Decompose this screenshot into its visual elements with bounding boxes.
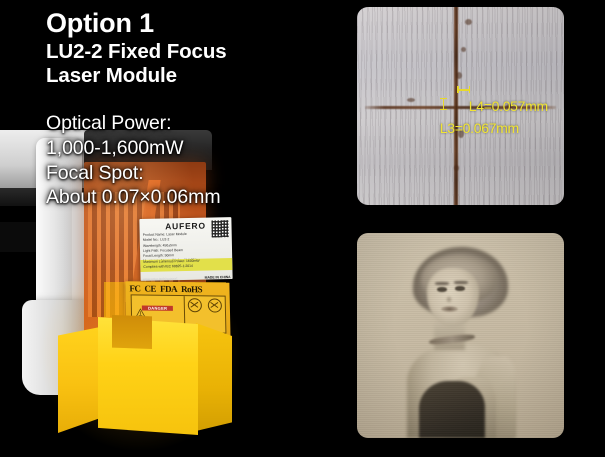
shield-right-panel [196,323,232,431]
measurement-tick-horizontal [457,89,470,90]
measurement-label-l3: L3=0.067mm [440,120,519,136]
sample-photo-line-measurement: L4=0.057mm L3=0.067mm [357,7,564,205]
shield-notch [112,315,152,349]
no-skin-exposure-icon [208,298,222,312]
cert-ce-icon: CE [144,284,156,294]
burn-spot [407,98,415,102]
made-in-text: MADE IN CHINA [205,275,231,280]
spec-list: Optical Power: 1,000-1,600mW Focal Spot:… [46,111,336,211]
portrait-material-texture [357,233,564,438]
no-stare-icon [187,298,201,312]
spec-optical-power-value: 1,000-1,600mW [46,136,336,161]
spec-highlight-line: Complies with IEC 60825-1:2014 [140,263,232,270]
spec-label-highlight-strip: Maximum Luminous Power: 1600mW Complies … [140,258,232,272]
slide-canvas: AUFERO Product Name: Laser Module Model … [0,0,605,457]
measurement-label-l4: L4=0.057mm [469,98,548,114]
engraved-portrait [357,233,564,438]
spec-focal-spot-value: About 0.07×0.06mm [46,185,336,210]
laser-safety-shield [58,315,234,435]
support-url-text: www.ortur.tech/support [143,277,178,282]
measurement-tick-vertical [443,98,444,110]
spec-optical-power-label: Optical Power: [46,111,336,136]
certification-marks: FC CE FDA RoHS [125,281,229,294]
cert-fc-icon: FC [129,283,140,293]
product-subtitle: LU2-2 Fixed Focus Laser Module [46,40,336,88]
burn-spot [461,47,466,52]
burn-spot [465,19,472,25]
subtitle-line-2: Laser Module [46,64,336,88]
sample-photo-portrait [357,233,564,438]
cert-fda-icon: FDA [160,284,177,294]
danger-word: DANGER [142,306,173,311]
qr-code-icon [211,220,228,237]
shield-left-panel [58,327,100,433]
burn-line-vertical-core [456,7,458,205]
cert-rohs-icon: RoHS [181,284,202,294]
text-panel: Option 1 LU2-2 Fixed Focus Laser Module … [46,8,336,210]
subtitle-line-1: LU2-2 Fixed Focus [46,40,336,64]
page-title: Option 1 [46,8,336,38]
spec-focal-spot-label: Focal Spot: [46,161,336,186]
product-spec-label: AUFERO Product Name: Laser Module Model … [139,217,232,281]
